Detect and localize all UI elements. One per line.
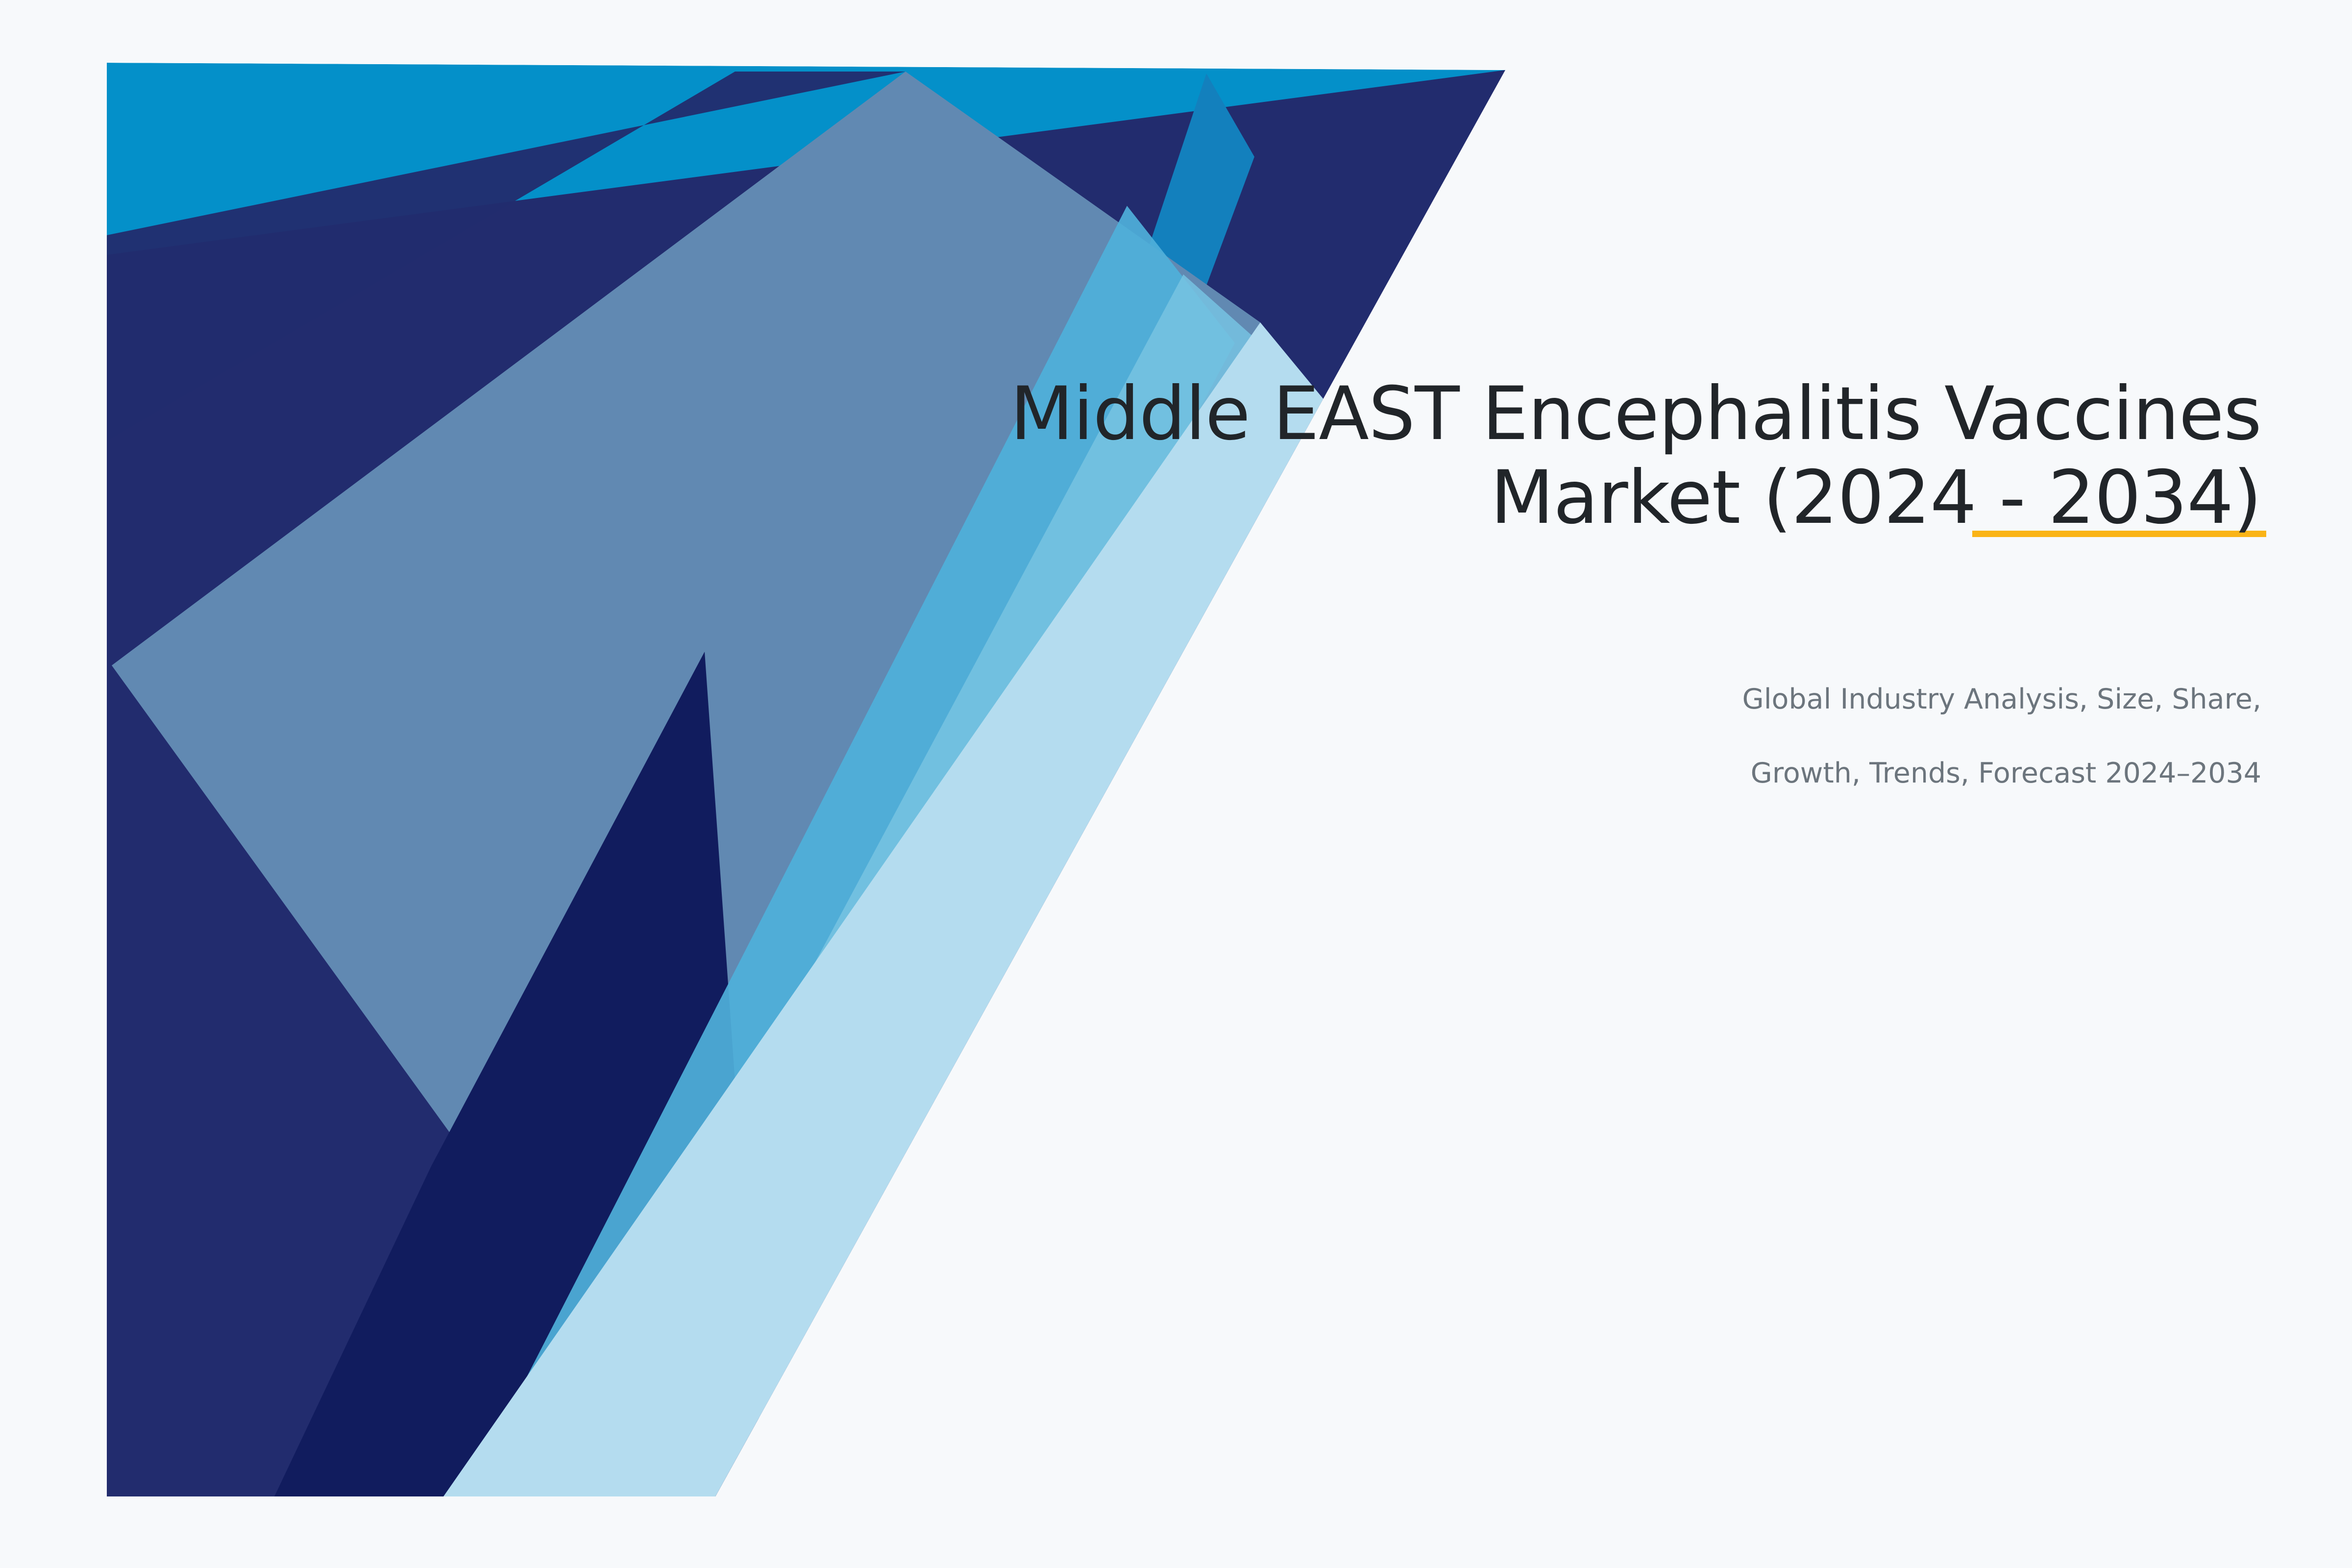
report-cover-page: Middle EAST Encephalitis Vaccines Market…: [0, 0, 2352, 1568]
subtitle-block: Global Industry Analysis, Size, Share, G…: [1232, 644, 2261, 792]
page-title-line-2: Market (2024 - 2034): [1491, 455, 2261, 540]
page-subtitle: Global Industry Analysis, Size, Share, G…: [1232, 644, 2261, 792]
shape-navy-top-left-sliver: [107, 72, 906, 441]
page-title: Middle EAST Encephalitis Vaccines Market…: [938, 372, 2261, 540]
page-subtitle-line-1: Global Industry Analysis, Size, Share,: [1742, 683, 2261, 715]
title-block: Middle EAST Encephalitis Vaccines Market…: [938, 372, 2261, 540]
shape-deep-navy-arrow: [274, 652, 764, 1496]
page-subtitle-line-2: Growth, Trends, Forecast 2024–2034: [1751, 757, 2261, 789]
shape-steel-blue-kite: [112, 72, 1260, 1496]
page-title-line-1: Middle EAST Encephalitis Vaccines: [1010, 371, 2261, 457]
